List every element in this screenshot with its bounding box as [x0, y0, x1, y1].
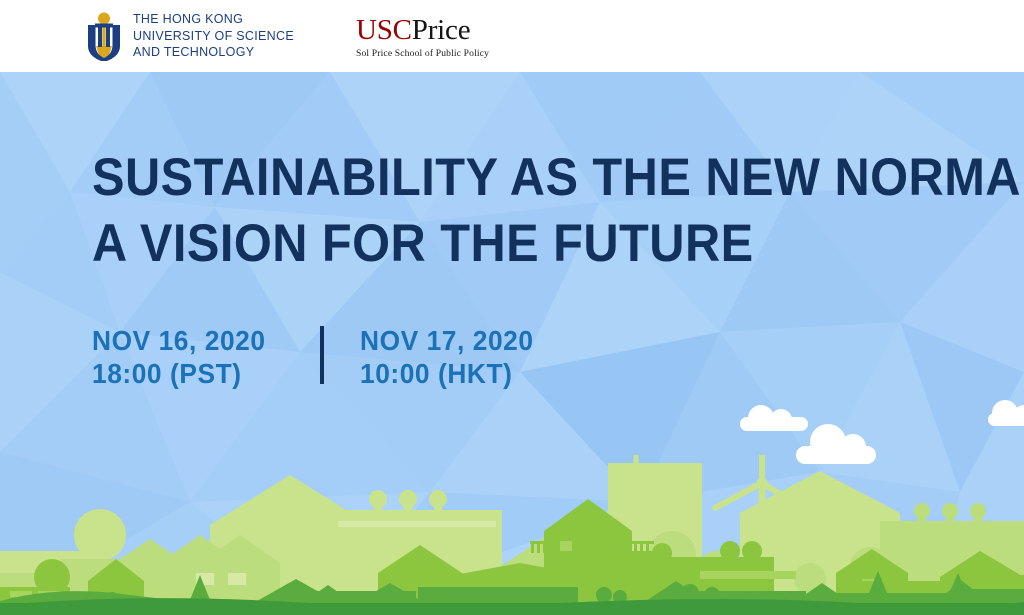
- time-hkt: 10:00 (HKT): [360, 357, 534, 390]
- page-title: SUSTAINABILITY AS THE NEW NORMAL – A VIS…: [92, 145, 949, 277]
- hkust-shield-icon: [84, 11, 124, 61]
- title-line-1: SUSTAINABILITY AS THE NEW NORMAL –: [92, 145, 949, 211]
- usc-price-logo[interactable]: USCPrice Sol Price School of Public Poli…: [356, 14, 489, 59]
- usc-price-wordmark: USCPrice: [356, 16, 489, 45]
- hkust-line-1: THE HONG KONG: [133, 11, 294, 28]
- date-divider: [320, 326, 324, 384]
- time-pst: 18:00 (PST): [92, 357, 266, 390]
- event-datetimes: NOV 16, 2020 18:00 (PST) NOV 17, 2020 10…: [92, 324, 1024, 390]
- hkust-line-2: UNIVERSITY OF SCIENCE: [133, 28, 294, 45]
- hero-content: SUSTAINABILITY AS THE NEW NORMAL – A VIS…: [0, 72, 1024, 390]
- title-line-2: A VISION FOR THE FUTURE: [92, 211, 949, 277]
- date-block-pst: NOV 16, 2020 18:00 (PST): [92, 324, 266, 390]
- logo-header-band: THE HONG KONG UNIVERSITY OF SCIENCE AND …: [0, 0, 1024, 72]
- cloud-icon-3: [988, 400, 1024, 426]
- date-hkt: NOV 17, 2020: [360, 324, 534, 357]
- usc-letters: USC: [356, 14, 412, 46]
- hkust-wordmark: THE HONG KONG UNIVERSITY OF SCIENCE AND …: [133, 11, 294, 61]
- hkust-line-3: AND TECHNOLOGY: [133, 44, 294, 61]
- date-block-hkt: NOV 17, 2020 10:00 (HKT): [360, 324, 534, 390]
- price-word: Price: [412, 14, 471, 46]
- hkust-logo[interactable]: THE HONG KONG UNIVERSITY OF SCIENCE AND …: [84, 11, 294, 61]
- usc-price-subtitle: Sol Price School of Public Policy: [356, 48, 489, 59]
- event-banner: SUSTAINABILITY AS THE NEW NORMAL – A VIS…: [0, 0, 1024, 615]
- date-pst: NOV 16, 2020: [92, 324, 266, 357]
- cityscape-illustration: [0, 455, 1024, 615]
